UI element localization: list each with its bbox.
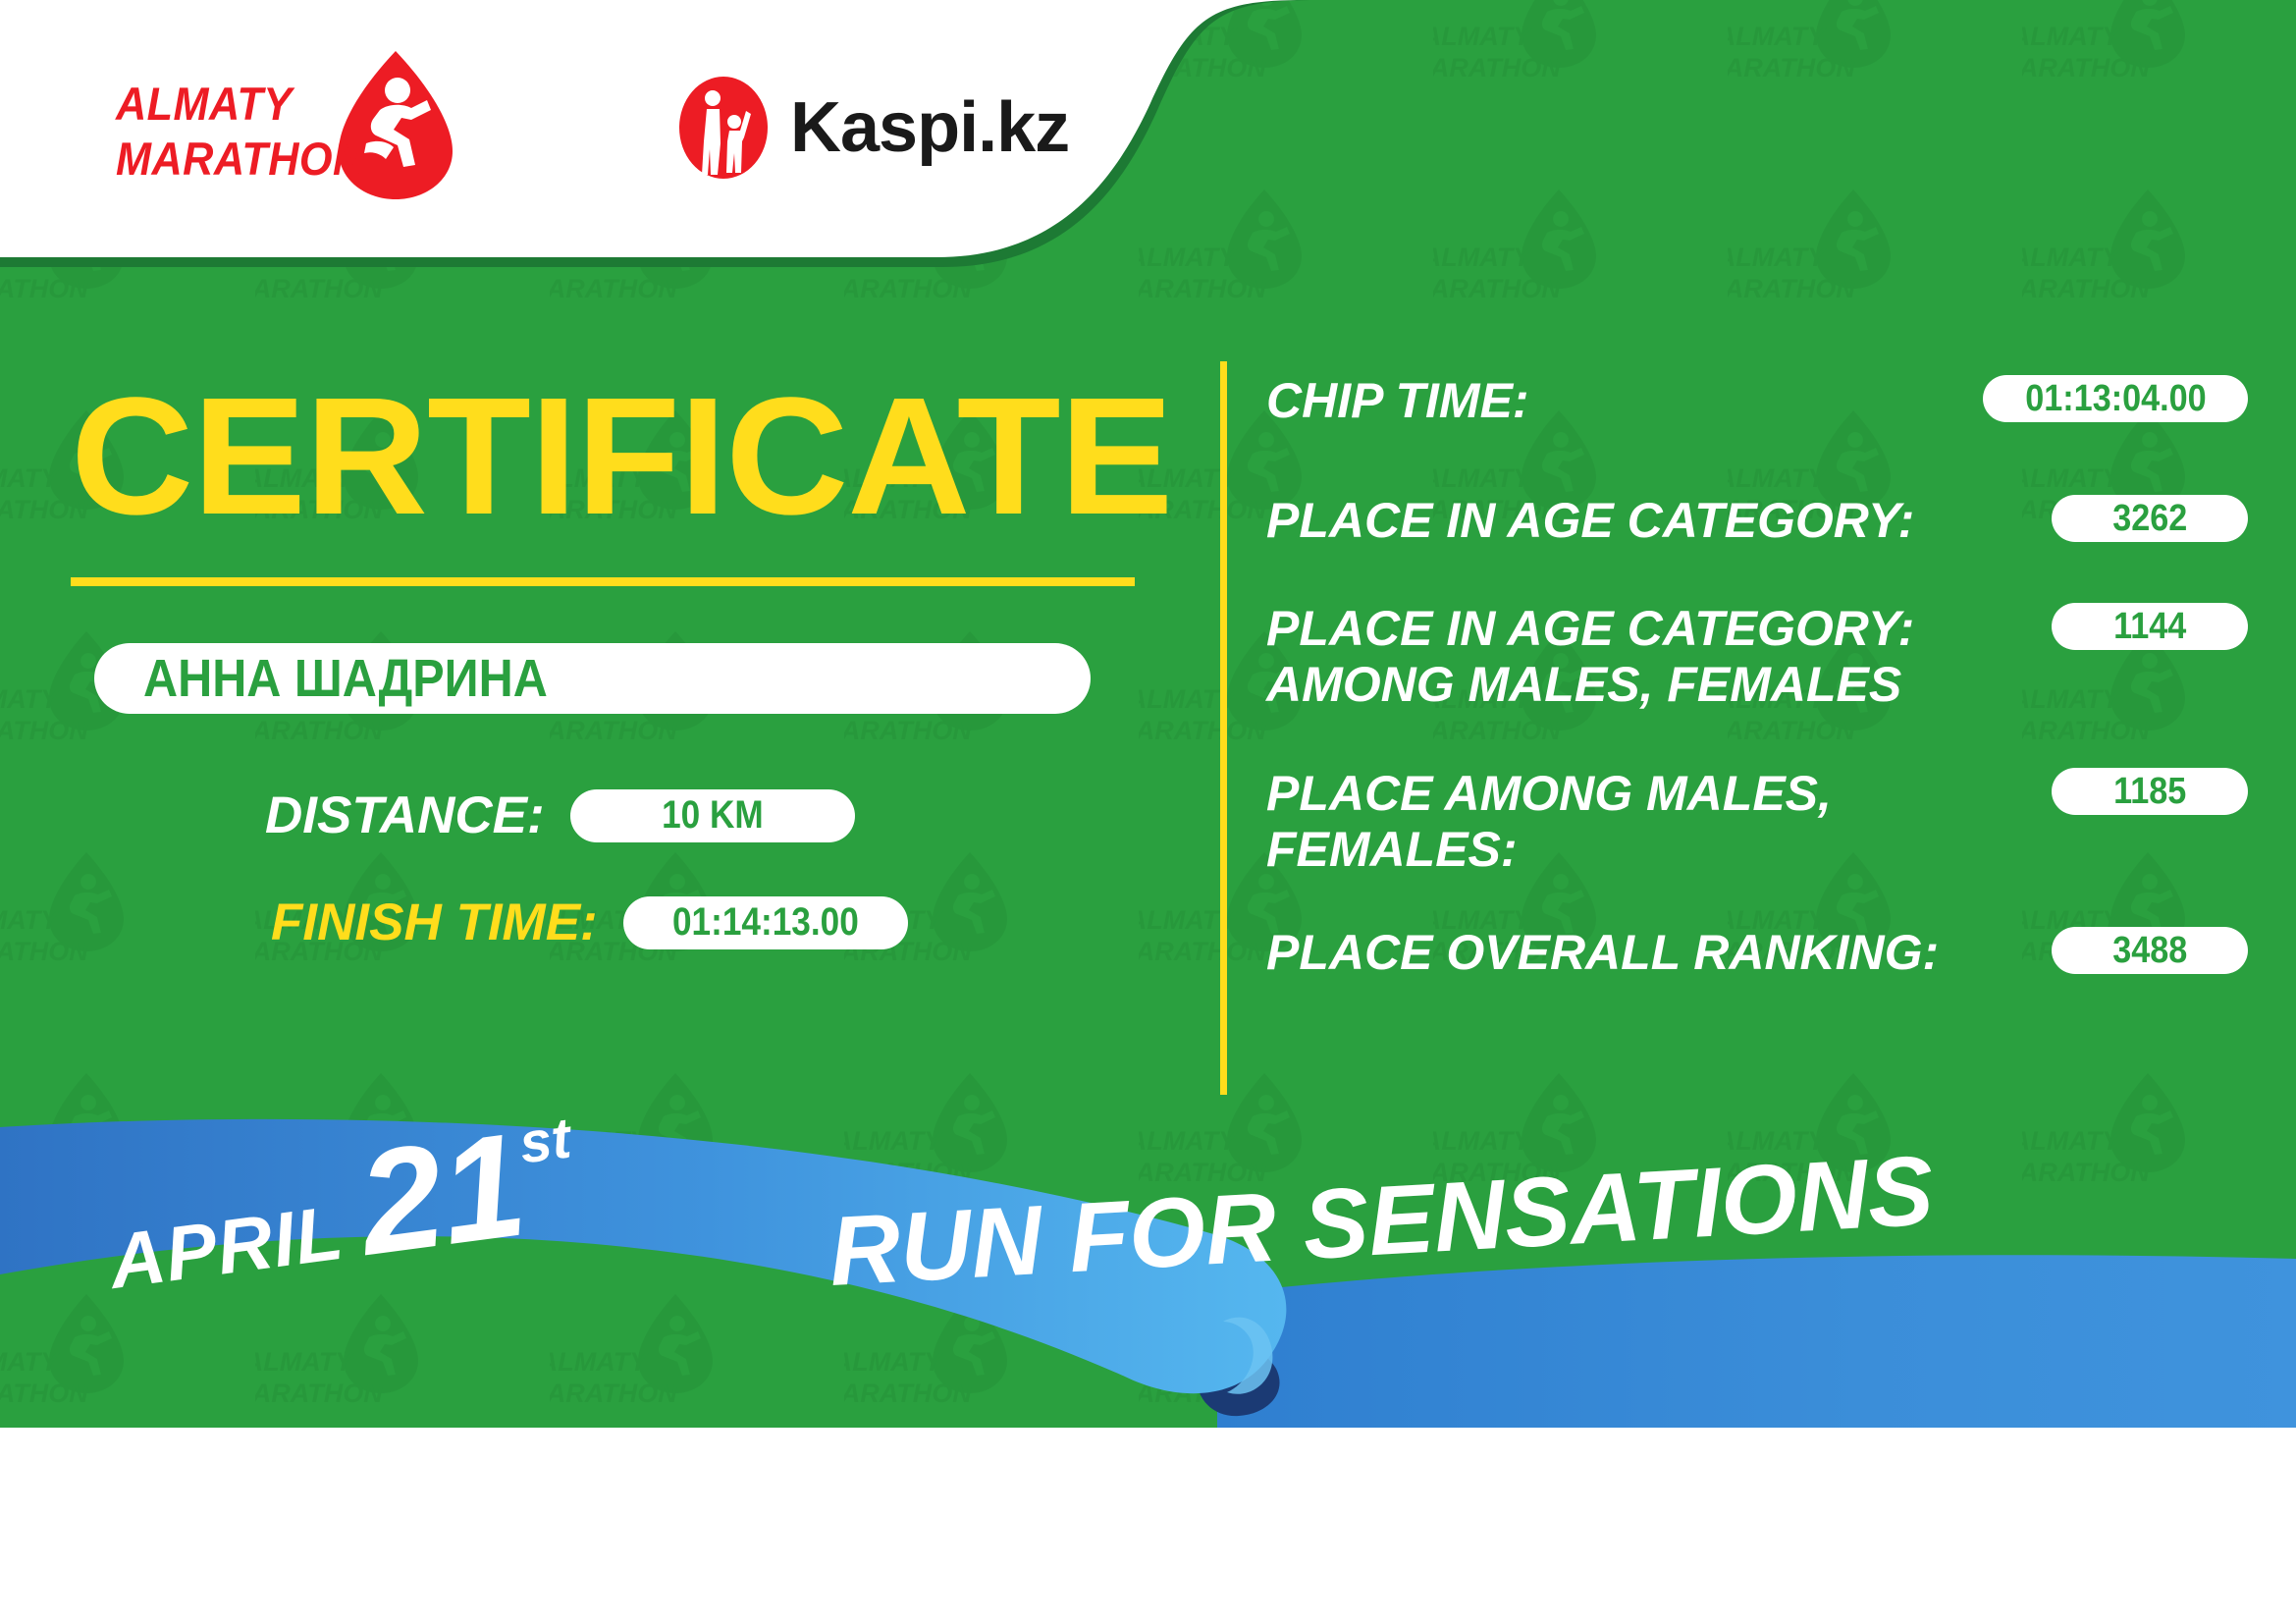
svg-text:MARATHON: MARATHON <box>2022 274 2150 303</box>
place-age-category-gender-value-pill: 1144 <box>2052 603 2248 650</box>
svg-text:ALMATY: ALMATY <box>1433 22 1533 51</box>
svg-text:ALMATY: ALMATY <box>0 684 61 714</box>
chip-time-row: CHIP TIME: 01:13:04.00 <box>1266 373 2248 432</box>
watermark-tile: ALMATYMARATHON <box>2022 0 2209 108</box>
svg-text:MARATHON: MARATHON <box>550 716 677 745</box>
watermark-tile: ALMATYMARATHON <box>2022 182 2209 329</box>
svg-text:ALMATY: ALMATY <box>2022 243 2122 272</box>
chip-time-value-pill: 01:13:04.00 <box>1983 375 2248 422</box>
svg-text:ALMATY: ALMATY <box>2022 22 2122 51</box>
svg-text:ALMATY: ALMATY <box>1728 22 1828 51</box>
label-line-1: PLACE IN AGE CATEGORY: <box>1266 601 2038 657</box>
participant-name: АННА ШАДРИНА <box>143 648 548 709</box>
place-among-gender-value-pill: 1185 <box>2052 768 2248 815</box>
finish-time-row: FINISH TIME: 01:14:13.00 <box>0 893 1158 952</box>
finish-time-value: 01:14:13.00 <box>672 900 859 945</box>
watermark-tile: ALMATYMARATHON <box>1433 182 1620 329</box>
stats-list: CHIP TIME: 01:13:04.00 PLACE IN AGE CATE… <box>1266 373 2248 1021</box>
svg-text:MARATHON: MARATHON <box>1433 53 1561 82</box>
svg-text:MARATHON: MARATHON <box>1139 716 1266 745</box>
distance-value-pill: 10 KM <box>570 789 855 842</box>
place-age-category-gender-value: 1144 <box>2113 606 2186 648</box>
kaspi-logo-text: Kaspi.kz <box>790 87 1069 168</box>
svg-text:MARATHON: MARATHON <box>0 716 88 745</box>
watermark-tile: ALMATYMARATHON <box>1728 182 1914 329</box>
place-among-gender-row: PLACE AMONG MALES, FEMALES: 1185 <box>1266 766 2248 878</box>
place-age-category-value: 3262 <box>2112 498 2187 540</box>
certificate-page: ALMATYMARATHONALMATYMARATHONALMATYMARATH… <box>0 0 2296 1624</box>
chip-time-value: 01:13:04.00 <box>2025 378 2206 420</box>
svg-text:ALMATY: ALMATY <box>1728 243 1828 272</box>
certificate-title: CERTIFICATE <box>71 373 1172 540</box>
event-day: 21 <box>353 1124 531 1263</box>
svg-text:MARATHON: MARATHON <box>1433 274 1561 303</box>
label-line-1: PLACE AMONG MALES, <box>1266 766 2038 822</box>
left-field-list: DISTANCE: 10 KM FINISH TIME: 01:14:13.00 <box>0 785 1158 1000</box>
distance-value: 10 KM <box>662 793 764 838</box>
place-among-gender-value: 1185 <box>2113 771 2186 813</box>
svg-text:MARATHON: MARATHON <box>255 716 383 745</box>
place-age-category-value-pill: 3262 <box>2052 495 2248 542</box>
finish-time-value-pill: 01:14:13.00 <box>623 896 908 949</box>
svg-text:MARATHON: MARATHON <box>1728 274 1855 303</box>
svg-text:ALMATY: ALMATY <box>0 463 61 493</box>
participant-name-field: АННА ШАДРИНА <box>94 643 1091 714</box>
sponsors-bar <box>0 1428 2296 1624</box>
place-overall-label: PLACE OVERALL RANKING: <box>1266 925 2052 981</box>
place-among-gender-label: PLACE AMONG MALES, FEMALES: <box>1266 766 2052 878</box>
svg-text:MARATHON: MARATHON <box>2022 53 2150 82</box>
place-overall-row: PLACE OVERALL RANKING: 3488 <box>1266 925 2248 984</box>
header-logos: ALMATY MARATHON Kaspi.kz <box>0 0 1178 265</box>
distance-row: DISTANCE: 10 KM <box>0 785 1158 845</box>
kaspi-logo: Kaspi.kz <box>677 69 1090 187</box>
place-age-category-label: PLACE IN AGE CATEGORY: <box>1266 493 2052 549</box>
distance-label: DISTANCE: <box>265 785 545 845</box>
title-underline <box>71 577 1135 586</box>
label-line-2: FEMALES: <box>1266 822 2038 878</box>
watermark-tile: ALMATYMARATHON <box>1433 0 1620 108</box>
place-overall-value-pill: 3488 <box>2052 927 2248 974</box>
kaspi-figure-icon <box>677 77 771 180</box>
place-overall-value: 3488 <box>2112 930 2187 972</box>
place-age-category-gender-row: PLACE IN AGE CATEGORY: AMONG MALES, FEMA… <box>1266 601 2248 713</box>
chip-time-label: CHIP TIME: <box>1266 373 1543 429</box>
svg-text:ALMATY: ALMATY <box>1433 243 1533 272</box>
column-divider <box>1220 361 1227 1095</box>
label-line-2: AMONG MALES, FEMALES <box>1266 657 2038 713</box>
place-age-category-row: PLACE IN AGE CATEGORY: 3262 <box>1266 493 2248 552</box>
finish-time-label: FINISH TIME: <box>271 893 598 952</box>
event-day-ordinal: st <box>515 1105 574 1176</box>
watermark-tile: ALMATYMARATHON <box>1728 0 1914 108</box>
svg-text:MARATHON: MARATHON <box>844 716 972 745</box>
almaty-logo-text: ALMATY MARATHON <box>116 77 364 187</box>
almaty-marathon-logo: ALMATY MARATHON <box>116 49 440 206</box>
place-age-category-gender-label: PLACE IN AGE CATEGORY: AMONG MALES, FEMA… <box>1266 601 2052 713</box>
svg-text:MARATHON: MARATHON <box>1728 53 1855 82</box>
